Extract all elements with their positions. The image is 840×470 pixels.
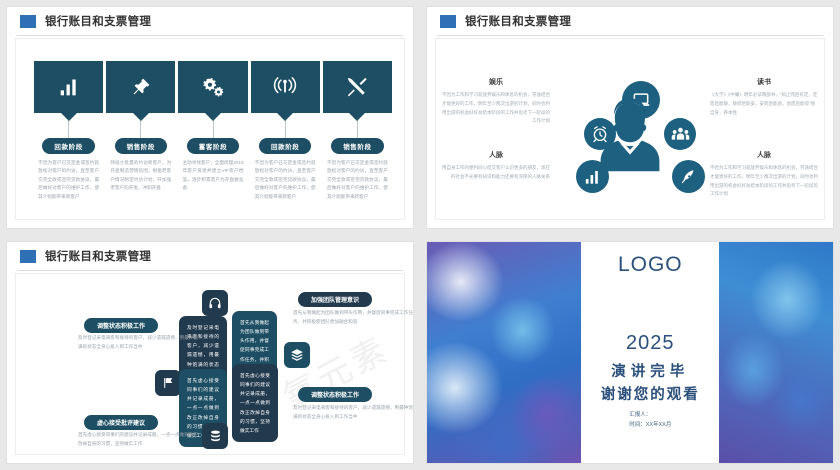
pushpin-icon	[131, 77, 151, 97]
slide-cell-2[interactable]: 银行账目和支票管理	[420, 0, 840, 235]
step-description: 持续大批量的约访新客户，为开盘制造营销氛围，根据老客户情况制定约访计划，开加强老…	[110, 159, 171, 193]
header-accent-square	[440, 15, 456, 28]
bubble-icon-flag[interactable]	[155, 370, 181, 396]
headphone-icon	[208, 296, 222, 310]
label-pill-2: 加强团队管理意识	[298, 292, 372, 307]
people-group-icon	[671, 126, 690, 143]
bubble-4: 首先虚心接受同事们的建议并记录成册，一点一点做到改正改掉自身的习惯，坚持做实工作	[232, 364, 278, 442]
broadcast-icon	[272, 77, 298, 97]
step-label: 蓄客阶段	[187, 138, 239, 154]
header-accent-square	[20, 250, 36, 263]
step-description: 不因为客户已交定金或签约就放松对客户的约访，直至客户交完全款或签完贷款协议，最后…	[327, 159, 388, 201]
slide-1-header: 银行账目和支票管理	[7, 7, 413, 35]
thank-you-layout: LOGO 2025 演讲完毕 谢谢您的观看 汇报人： 时间：XX年XX月	[427, 242, 833, 463]
label-pill-3: 虚心接受批评建议	[84, 415, 158, 430]
date-label: 时间：XX年XX月	[629, 420, 671, 430]
header-divider	[17, 270, 403, 271]
slide-4[interactable]: LOGO 2025 演讲完毕 谢谢您的观看 汇报人： 时间：XX年XX月	[426, 241, 834, 464]
logo-text: LOGO	[618, 253, 683, 277]
presenter-label: 汇报人：	[629, 410, 671, 420]
step-label: 销售阶段	[115, 138, 167, 154]
header-divider	[437, 35, 823, 36]
info-heading: 娱乐	[442, 77, 550, 87]
closing-line-1: 演讲完毕	[611, 360, 689, 381]
slide-3-header: 银行账目和支票管理	[7, 242, 413, 270]
person-avatar-icon	[588, 94, 672, 178]
slide-3[interactable]: 银行账目和支票管理 氧元素 及时登记采电来客和接待的客户，减少遗漏遗憾，用最种饱…	[6, 241, 414, 464]
slide-thumbnail-grid: 银行账目和支票管理 回款阶段 不因为客户已交定金或签约就放松对客户的约访，直至客…	[0, 0, 840, 470]
step-label: 回款阶段	[42, 138, 94, 154]
presenter-meta: 汇报人： 时间：XX年XX月	[629, 410, 671, 431]
step-item-3[interactable]: 蓄客阶段 主动寻找客户，全面梳理2013年客户资源并建立VIP客户档案，逐步积累…	[178, 61, 247, 201]
flag-icon	[162, 376, 175, 390]
bubble-icon-database[interactable]	[202, 423, 228, 449]
hub-node-pen[interactable]	[672, 160, 705, 193]
step-description: 不因为客户已交定金或签约就放松对客户的约访，直至客户交完全款或签完贷款协议，最后…	[38, 159, 99, 201]
slide-cell-3[interactable]: 银行账目和支票管理 氧元素 及时登记采电来客和接待的客户，减少遗漏遗憾，用最种饱…	[0, 235, 420, 470]
info-heading: 人脉	[710, 150, 818, 160]
step-card[interactable]	[251, 61, 320, 113]
bubble-text: 首先虚心接受同事们的建议并记录成册，一点一点做到改正改掉自身的习惯，坚持做实工作	[240, 373, 270, 433]
slide-cell-4[interactable]: LOGO 2025 演讲完毕 谢谢您的观看 汇报人： 时间：XX年XX月	[420, 235, 840, 470]
watercolor-texture	[719, 242, 833, 463]
info-heading: 读书	[710, 77, 818, 87]
info-block-1: 娱乐 不因为工作和学习就放弃娱乐和休息的机会，劳逸结合才能更好的工作，明年至少两…	[442, 77, 550, 126]
label-text-1: 及时登记采电来客和接待的客户，减少遗漏遗憾，用最种饱满的状态全身心投入到工作当中	[78, 334, 198, 352]
page-title: 银行账目和支票管理	[45, 13, 151, 29]
header-accent-square	[20, 15, 36, 28]
step-description: 主动寻找客户，全面梳理2013年客户资源并建立VIP客户档案，逐步积累客户为开盘…	[183, 159, 244, 193]
label-text-3: 首先虚心接受同事们的建议并记录成册，一点一点做到改正改掉自身的习惯，坚持做实工作	[78, 431, 198, 449]
step-card[interactable]	[178, 61, 247, 113]
database-icon	[209, 429, 222, 443]
bubble-icon-headphone[interactable]	[202, 290, 228, 316]
info-text: 不因为工作和学习就放弃娱乐和休息的机会，劳逸结合才能更好的工作，明年至少两次出游…	[710, 164, 818, 199]
center-content-panel: LOGO 2025 演讲完毕 谢谢您的观看 汇报人： 时间：XX年XX月	[581, 242, 719, 463]
label-pill-4: 调整状态积极工作	[298, 387, 372, 402]
info-block-4: 人脉 不因为工作和学习就放弃娱乐和休息的机会，劳逸结合才能更好的工作，明年至少两…	[710, 150, 818, 199]
slide-2-header: 银行账目和支票管理	[427, 7, 833, 35]
page-title: 银行账目和支票管理	[45, 248, 151, 264]
page-title: 银行账目和支票管理	[465, 13, 571, 29]
slide-2[interactable]: 银行账目和支票管理	[426, 6, 834, 229]
left-watercolor-panel	[427, 242, 581, 463]
bubble-icon-layers[interactable]	[284, 342, 310, 368]
label-text-2: 首先从我做起为团队做到带头作用，并督促同事完成工作任务，并积极使团队更加融合和谐	[293, 309, 413, 327]
info-heading: 人脉	[442, 150, 550, 160]
step-card-row: 回款阶段 不因为客户已交定金或签约就放松对客户的约访，直至客户交完全款或签完贷款…	[34, 61, 392, 201]
slide-cell-1[interactable]: 银行账目和支票管理 回款阶段 不因为客户已交定金或签约就放松对客户的约访，直至客…	[0, 0, 420, 235]
step-description: 不因为客户已交定金或签约就放松对客户的约访，直至客户交完全款或签完贷款协议，最后…	[255, 159, 316, 201]
bar-chart-icon	[58, 77, 80, 97]
gears-icon	[201, 76, 225, 98]
closing-line-2: 谢谢您的观看	[601, 383, 700, 404]
step-card[interactable]	[34, 61, 103, 113]
tools-icon	[346, 76, 368, 98]
slide-1[interactable]: 银行账目和支票管理 回款阶段 不因为客户已交定金或签约就放松对客户的约访，直至客…	[6, 6, 414, 229]
step-item-5[interactable]: 销售阶段 不因为客户已交定金或签约就放松对客户的约访，直至客户交完全款或签完贷款…	[323, 61, 392, 201]
step-item-1[interactable]: 回款阶段 不因为客户已交定金或签约就放松对客户的约访，直至客户交完全款或签完贷款…	[34, 61, 103, 201]
info-block-3: 读书 《大学》《中庸》明年必读两部书，"知止而后有定，定而后能静，静而后能安，安…	[710, 77, 818, 117]
header-divider	[17, 35, 403, 36]
label-text-4: 及时登记采电来客和接待的客户，减少遗漏遗憾，用最种饱满的状态全身心投入到工作当中	[293, 404, 413, 422]
layers-icon	[290, 348, 304, 362]
info-text: 《大学》《中庸》明年必读两部书，"知止而后有定，定而后能静，静而后能安，安而后能…	[710, 91, 818, 117]
step-item-4[interactable]: 回款阶段 不因为客户已交定金或签约就放松对客户的约访，直至客户交完全款或签完贷款…	[251, 61, 320, 201]
info-text: 不因为工作和学习就放弃娱乐和休息的机会，劳逸结合才能更好的工作，明年至少两次出游…	[442, 91, 550, 126]
label-pill-1: 调整状态积极工作	[84, 318, 158, 333]
step-label: 回款阶段	[259, 138, 311, 154]
watercolor-texture	[427, 242, 581, 463]
slide-1-body: 回款阶段 不因为客户已交定金或签约就放松对客户的约访，直至客户交完全款或签完贷款…	[15, 38, 405, 220]
hub-diagram: 娱乐 不因为工作和学习就放弃娱乐和休息的机会，劳逸结合才能更好的工作，明年至少两…	[436, 39, 824, 219]
slide-2-body: 娱乐 不因为工作和学习就放弃娱乐和休息的机会，劳逸结合才能更好的工作，明年至少两…	[435, 38, 825, 220]
step-card[interactable]	[106, 61, 175, 113]
year-text: 2025	[626, 332, 675, 355]
right-watercolor-panel	[719, 242, 833, 463]
step-card[interactable]	[323, 61, 392, 113]
pen-nib-icon	[680, 168, 697, 185]
info-text: 用自身工作的便利同心结交客户认识更多的朋友，现在的社会不光要有知识和能力还要有深…	[442, 164, 550, 182]
step-label: 销售阶段	[331, 138, 383, 154]
info-block-2: 人脉 用自身工作的便利同心结交客户认识更多的朋友，现在的社会不光要有知识和能力还…	[442, 150, 550, 182]
slide-3-body: 氧元素 及时登记采电来客和接待的客户，减少遗漏遗憾，用最种饱满的状态全身心投入到…	[15, 273, 405, 455]
step-item-2[interactable]: 销售阶段 持续大批量的约访新客户，为开盘制造营销氛围，根据老客户情况制定约访计划…	[106, 61, 175, 201]
